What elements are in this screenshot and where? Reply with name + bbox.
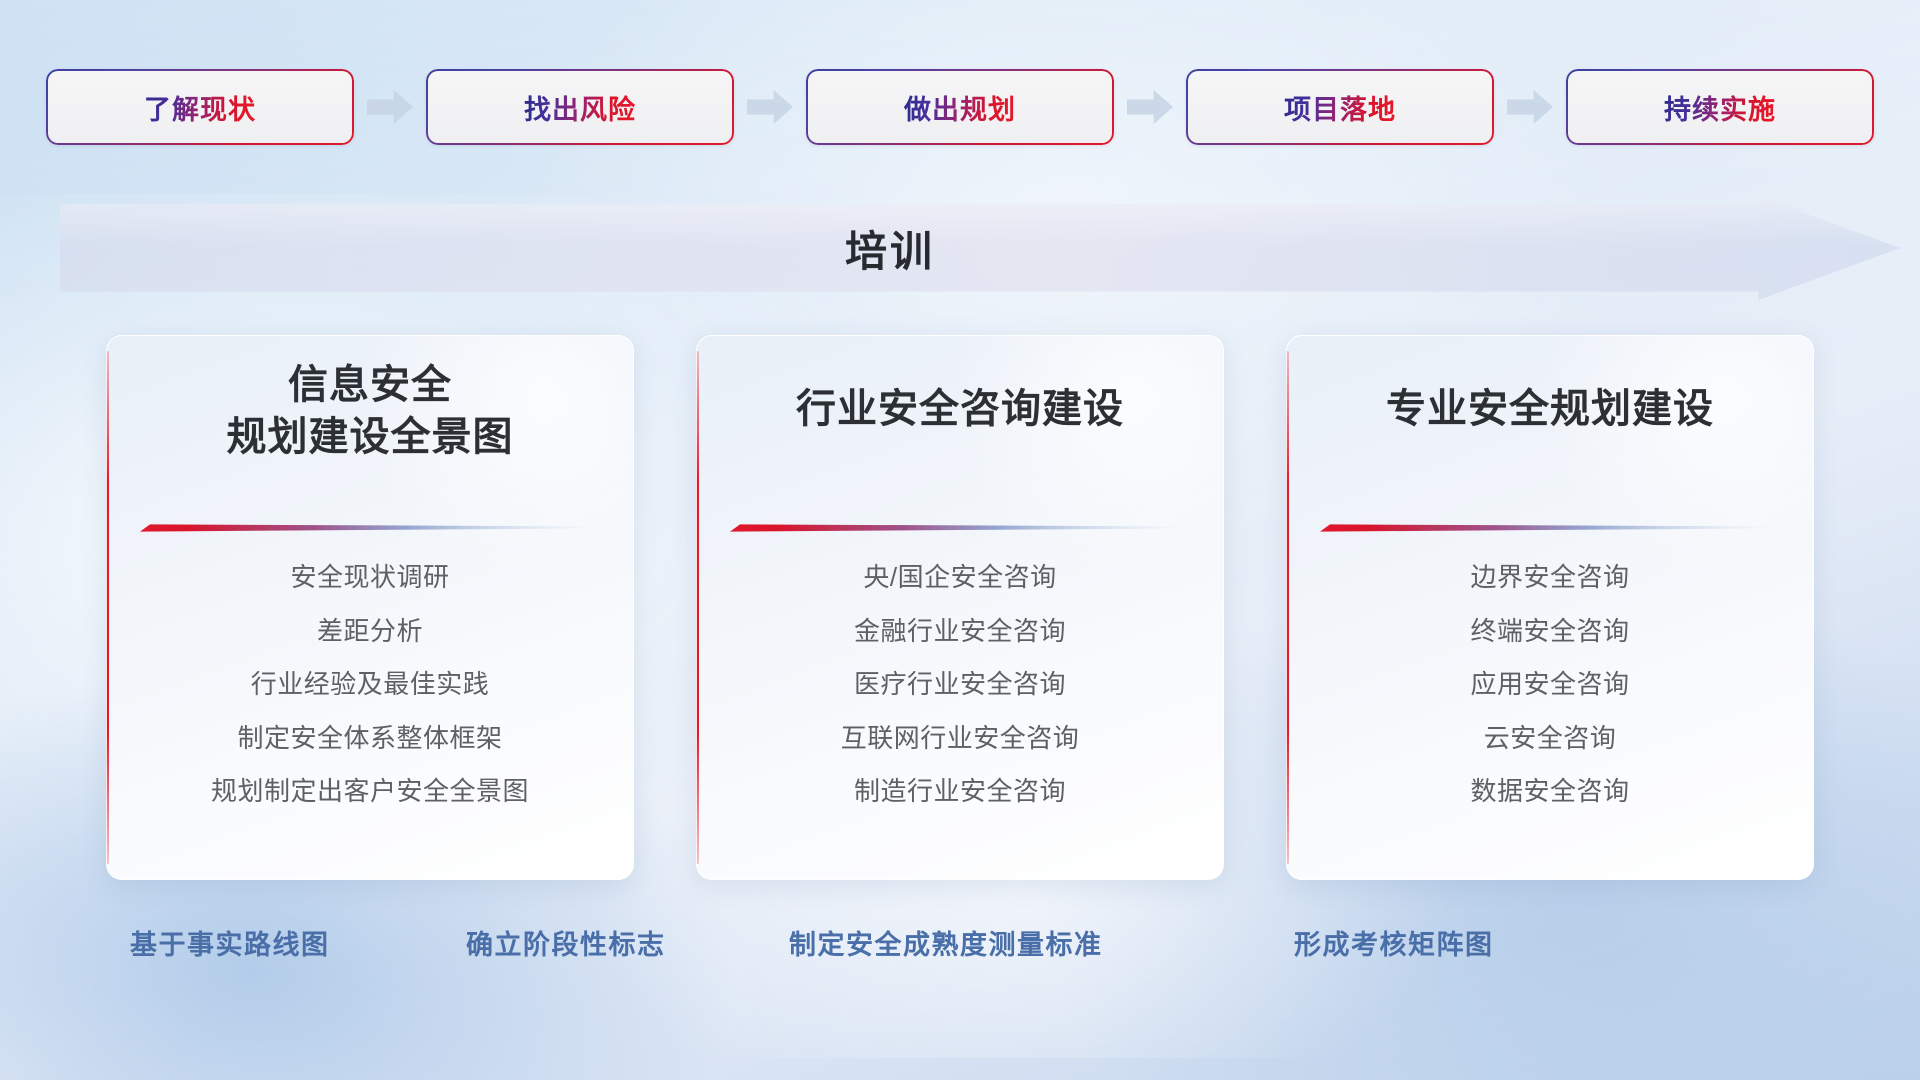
service-card-1[interactable]: 信息安全规划建设全景图安全现状调研差距分析行业经验及最佳实践制定安全体系整体框架… <box>106 335 634 880</box>
card-item-list: 央/国企安全咨询金融行业安全咨询医疗行业安全咨询互联网行业安全咨询制造行业安全咨… <box>696 561 1224 808</box>
card-title: 专业安全规划建设 <box>1286 383 1814 435</box>
card-list-item[interactable]: 应用安全咨询 <box>1470 668 1629 701</box>
step-arrow-icon <box>367 90 413 124</box>
card-list-item[interactable]: 医疗行业安全咨询 <box>854 668 1066 701</box>
card-list-item[interactable]: 规划制定出客户安全全景图 <box>211 775 529 808</box>
card-list-item[interactable]: 数据安全咨询 <box>1470 775 1629 808</box>
process-step-3[interactable]: 做出规划 <box>806 69 1114 145</box>
card-list-item[interactable]: 制造行业安全咨询 <box>854 775 1066 808</box>
outcome-label-3: 制定安全成熟度测量标准 <box>789 915 1103 969</box>
card-list-item[interactable]: 安全现状调研 <box>290 561 449 594</box>
outcome-label-1: 基于事实路线图 <box>130 915 330 969</box>
card-list-item[interactable]: 行业经验及最佳实践 <box>251 668 490 701</box>
process-step-label: 了解现状 <box>144 88 256 127</box>
process-step-4[interactable]: 项目落地 <box>1186 69 1494 145</box>
card-sheen <box>1539 335 1814 586</box>
process-steps: 了解现状找出风险做出规划项目落地持续实施 <box>0 62 1920 152</box>
step-arrow-icon <box>1127 90 1173 124</box>
service-card-3[interactable]: 专业安全规划建设边界安全咨询终端安全咨询应用安全咨询云安全咨询数据安全咨询 <box>1286 335 1814 880</box>
process-step-label: 持续实施 <box>1664 88 1776 127</box>
process-step-label: 做出规划 <box>904 88 1016 127</box>
card-title: 信息安全规划建设全景图 <box>106 359 634 463</box>
card-title: 行业安全咨询建设 <box>696 383 1224 435</box>
card-item-list: 安全现状调研差距分析行业经验及最佳实践制定安全体系整体框架规划制定出客户安全全景… <box>106 561 634 808</box>
outcome-labels: 基于事实路线图确立阶段性标志制定安全成熟度测量标准形成考核矩阵图 <box>0 915 1920 969</box>
card-list-item[interactable]: 制定安全体系整体框架 <box>237 722 502 755</box>
card-divider <box>1320 523 1780 533</box>
outcome-label-2: 确立阶段性标志 <box>466 915 666 969</box>
card-sheen <box>949 335 1224 586</box>
process-step-label: 找出风险 <box>524 88 636 127</box>
card-list-item[interactable]: 互联网行业安全咨询 <box>841 722 1080 755</box>
process-step-1[interactable]: 了解现状 <box>46 69 354 145</box>
card-list-item[interactable]: 金融行业安全咨询 <box>854 615 1066 648</box>
card-list-item[interactable]: 差距分析 <box>317 615 423 648</box>
process-step-2[interactable]: 找出风险 <box>426 69 734 145</box>
process-step-5[interactable]: 持续实施 <box>1566 69 1874 145</box>
process-step-label: 项目落地 <box>1284 88 1396 127</box>
background-top-sheen <box>0 0 1920 367</box>
card-list-item[interactable]: 边界安全咨询 <box>1470 561 1629 594</box>
card-item-list: 边界安全咨询终端安全咨询应用安全咨询云安全咨询数据安全咨询 <box>1286 561 1814 808</box>
service-card-2[interactable]: 行业安全咨询建设央/国企安全咨询金融行业安全咨询医疗行业安全咨询互联网行业安全咨… <box>696 335 1224 880</box>
card-divider <box>730 523 1190 533</box>
outcome-label-4: 形成考核矩阵图 <box>1294 915 1494 969</box>
step-arrow-icon <box>747 90 793 124</box>
training-banner: 培训 <box>60 196 1900 300</box>
card-list-item[interactable]: 央/国企安全咨询 <box>863 561 1056 594</box>
training-banner-label: 培训 <box>60 196 1720 300</box>
card-divider <box>140 523 600 533</box>
card-list-item[interactable]: 云安全咨询 <box>1484 722 1617 755</box>
card-list-item[interactable]: 终端安全咨询 <box>1470 615 1629 648</box>
service-cards: 信息安全规划建设全景图安全现状调研差距分析行业经验及最佳实践制定安全体系整体框架… <box>0 335 1920 885</box>
step-arrow-icon <box>1507 90 1553 124</box>
